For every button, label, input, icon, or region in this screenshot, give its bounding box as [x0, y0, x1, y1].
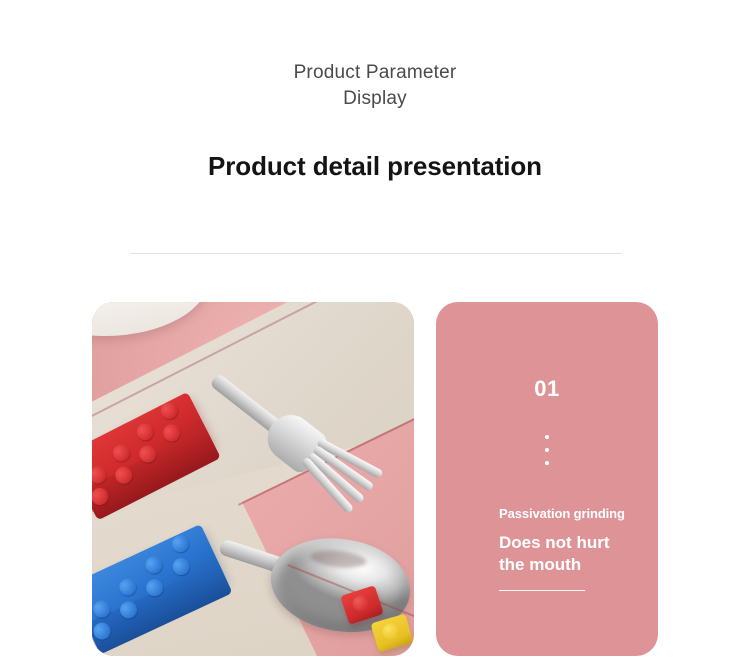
- feature-number: 01: [436, 376, 658, 402]
- dot: [545, 435, 549, 439]
- feature-headline-line-2: the mouth: [499, 554, 658, 576]
- eyebrow-line-1: Product Parameter: [294, 62, 457, 83]
- feature-headline-line-1: Does not hurt: [499, 532, 658, 554]
- feature-kicker: Passivation grinding: [499, 506, 658, 521]
- brick-stud: [381, 621, 403, 641]
- feature-underline: [499, 590, 585, 591]
- brick-stud: [143, 554, 166, 577]
- product-photo-card[interactable]: [92, 302, 414, 656]
- product-photo: [92, 302, 414, 656]
- dot: [545, 448, 549, 452]
- content-cards: 01 Passivation grinding Does not hurt th…: [0, 302, 750, 656]
- page-title: Product detail presentation: [0, 151, 750, 182]
- header-divider: [130, 253, 622, 254]
- brick-stud: [117, 576, 140, 599]
- brick-stud: [110, 442, 133, 465]
- vertical-dots-icon: [436, 435, 658, 465]
- brick-stud: [350, 593, 372, 614]
- page-eyebrow: Product Parameter Display: [0, 60, 750, 112]
- feature-text-block: Passivation grinding Does not hurt the m…: [499, 506, 658, 576]
- eyebrow-line-2: Display: [0, 86, 750, 112]
- feature-info-card[interactable]: 01 Passivation grinding Does not hurt th…: [436, 302, 658, 656]
- page-header: Product Parameter Display Product detail…: [0, 0, 750, 182]
- brick-stud: [169, 532, 192, 555]
- dot: [545, 461, 549, 465]
- brick-stud: [134, 420, 157, 443]
- feature-headline: Does not hurt the mouth: [499, 532, 658, 576]
